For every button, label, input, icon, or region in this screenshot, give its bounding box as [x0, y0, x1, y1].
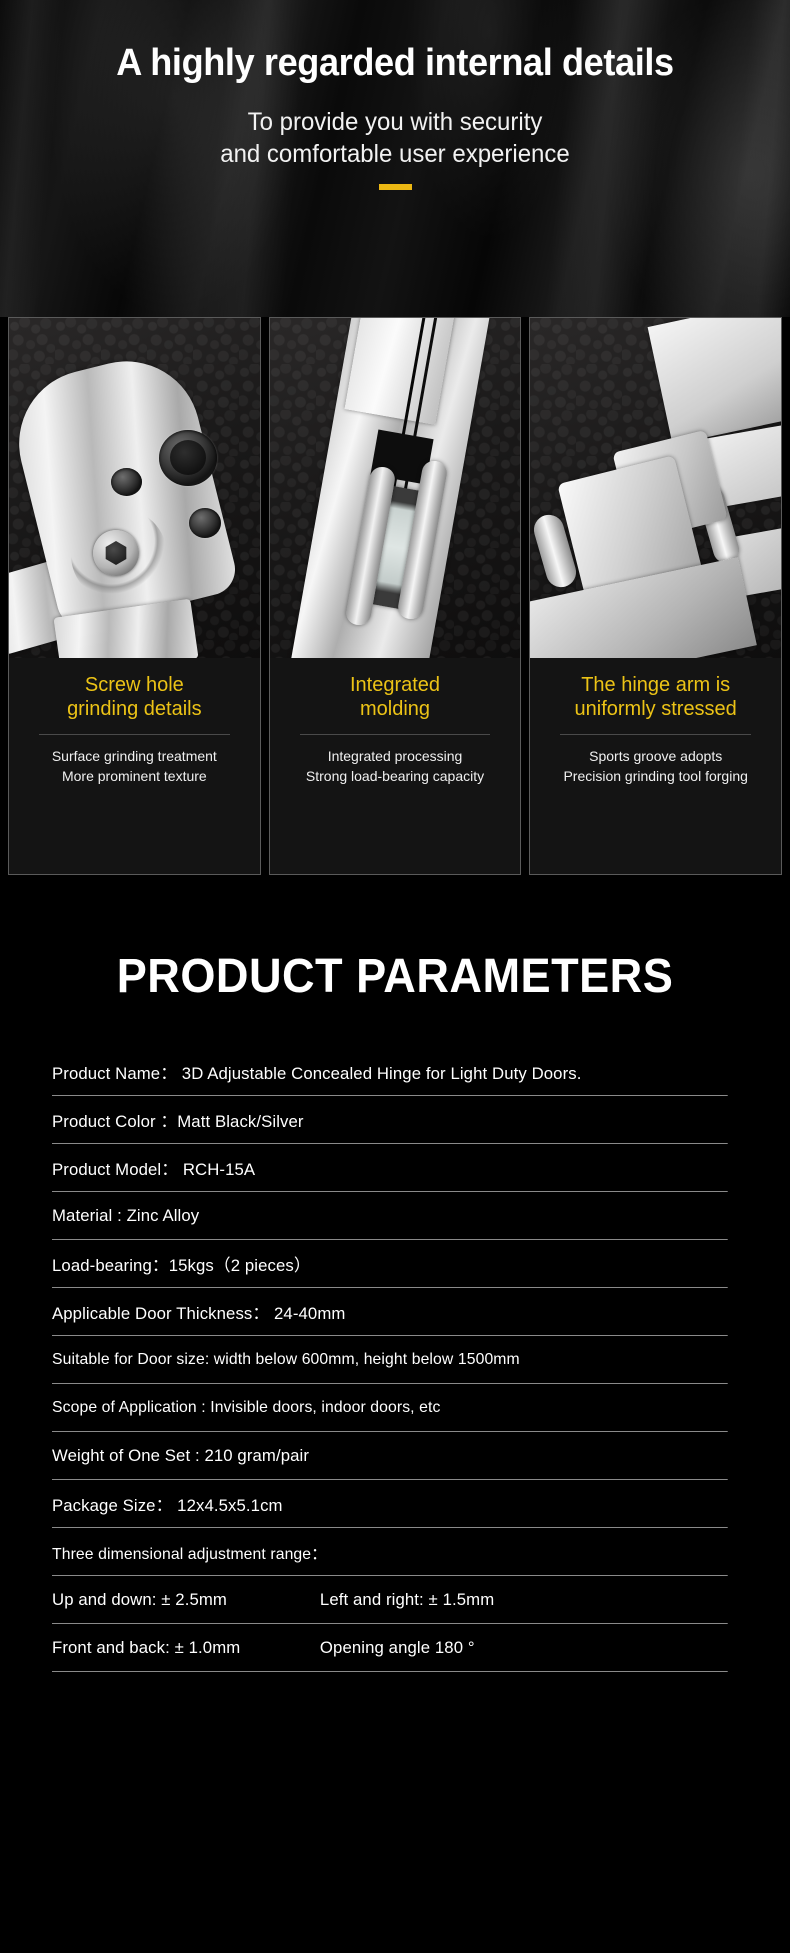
table-row-load-bearing: Load-bearing：15kgs（2 pieces） — [52, 1240, 728, 1288]
feature-desc-line-2: Precision grinding tool forging — [540, 767, 771, 787]
opening-angle: Opening angle 180 ° — [320, 1638, 728, 1658]
hero-subtitle-line-2: and comfortable user experience — [16, 138, 774, 170]
feature-desc-line-1: Integrated processing — [280, 747, 511, 767]
feature-desc-line-1: Sports groove adopts — [540, 747, 771, 767]
page-title: A highly regarded internal details — [20, 44, 771, 84]
feature-photo-integrated-molding — [270, 318, 521, 658]
feature-description: Sports groove adopts Precision grinding … — [538, 747, 773, 787]
feature-title-line-2: grinding details — [21, 698, 248, 722]
feature-photo-hinge-arm — [530, 318, 781, 658]
feature-card-screw-hole[interactable]: Screw hole grinding details Surface grin… — [8, 317, 261, 875]
feature-card-integrated-molding[interactable]: Integrated molding Integrated processing… — [269, 317, 522, 875]
feature-title-line-2: molding — [282, 698, 509, 722]
feature-title: Screw hole grinding details — [17, 674, 252, 721]
adjustment-front-back: Front and back: ± 1.0mm — [52, 1638, 320, 1658]
screw-hole-icon — [111, 468, 142, 496]
caption-divider — [39, 734, 230, 735]
feature-caption: The hinge arm is uniformly stressed Spor… — [530, 658, 781, 874]
feature-title: Integrated molding — [278, 674, 513, 721]
table-row-product-model: Product Model： RCH-15A — [52, 1144, 728, 1192]
feature-desc-line-2: Strong load-bearing capacity — [280, 767, 511, 787]
countersunk-hole-icon — [159, 430, 217, 486]
feature-title-line-1: The hinge arm is — [542, 674, 769, 698]
feature-description: Surface grinding treatment More prominen… — [17, 747, 252, 787]
table-row-weight: Weight of One Set : 210 gram/pair — [52, 1432, 728, 1480]
table-row-door-size: Suitable for Door size: width below 600m… — [52, 1336, 728, 1384]
hero-banner: A highly regarded internal details To pr… — [0, 0, 790, 317]
feature-title-line-1: Screw hole — [21, 674, 248, 698]
feature-photo-screw-hole — [9, 318, 260, 658]
screw-hole-icon — [189, 508, 221, 538]
section-heading: PRODUCT PARAMETERS — [24, 949, 767, 1004]
table-row-door-thickness: Applicable Door Thickness： 24-40mm — [52, 1288, 728, 1336]
feature-desc-line-2: More prominent texture — [19, 767, 250, 787]
table-row-product-name: Product Name： 3D Adjustable Concealed Hi… — [52, 1048, 728, 1096]
table-row-package-size: Package Size： 12x4.5x5.1cm — [52, 1480, 728, 1528]
accent-divider — [379, 184, 412, 190]
hex-screw-icon — [93, 530, 139, 576]
feature-description: Integrated processing Strong load-bearin… — [278, 747, 513, 787]
feature-caption: Integrated molding Integrated processing… — [270, 658, 521, 874]
table-row-scope-of-application: Scope of Application : Invisible doors, … — [52, 1384, 728, 1432]
table-row-adjustment-vertical-horizontal: Up and down: ± 2.5mm Left and right: ± 1… — [52, 1576, 728, 1624]
hinge-top-plate-shape — [648, 318, 781, 444]
caption-divider — [300, 734, 491, 735]
table-row-material: Material : Zinc Alloy — [52, 1192, 728, 1240]
feature-card-hinge-arm[interactable]: The hinge arm is uniformly stressed Spor… — [529, 317, 782, 875]
feature-caption: Screw hole grinding details Surface grin… — [9, 658, 260, 874]
table-row-adjustment-range-heading: Three dimensional adjustment range： — [52, 1528, 728, 1576]
feature-title-line-1: Integrated — [282, 674, 509, 698]
hero-subtitle-line-1: To provide you with security — [16, 106, 774, 138]
parameters-table: Product Name： 3D Adjustable Concealed Hi… — [52, 1048, 738, 1672]
feature-desc-line-1: Surface grinding treatment — [19, 747, 250, 767]
hero-subtitle: To provide you with security and comfort… — [16, 106, 774, 170]
table-row-adjustment-depth-angle: Front and back: ± 1.0mm Opening angle 18… — [52, 1624, 728, 1672]
caption-divider — [560, 734, 751, 735]
adjustment-left-right: Left and right: ± 1.5mm — [320, 1590, 728, 1610]
product-parameters-section: PRODUCT PARAMETERS Product Name： 3D Adju… — [0, 877, 790, 1672]
feature-card-row: Screw hole grinding details Surface grin… — [0, 317, 790, 877]
table-row-product-color: Product Color ：Matt Black/Silver — [52, 1096, 728, 1144]
feature-title: The hinge arm is uniformly stressed — [538, 674, 773, 721]
adjustment-up-down: Up and down: ± 2.5mm — [52, 1590, 320, 1610]
feature-title-line-2: uniformly stressed — [542, 698, 769, 722]
